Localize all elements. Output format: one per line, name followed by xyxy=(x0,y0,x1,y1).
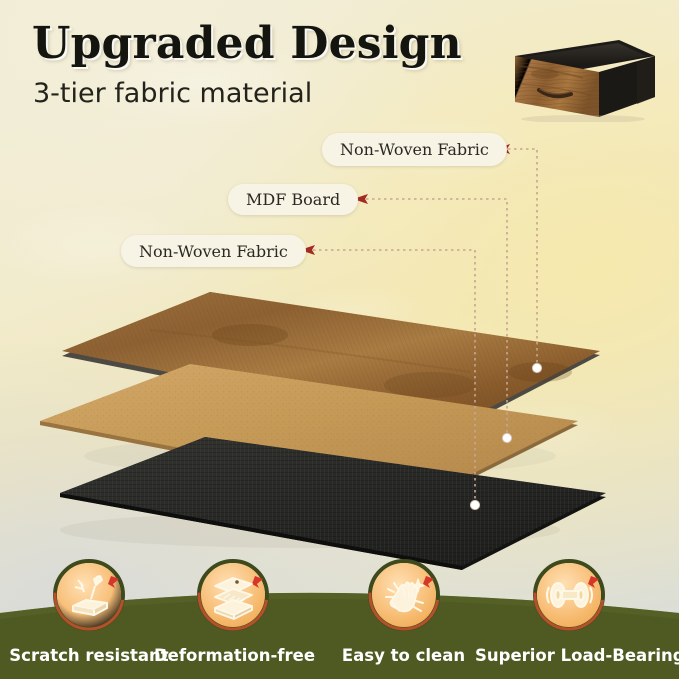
feature-badge-deformation-free xyxy=(197,559,269,631)
feature-badge-scratch-resistant xyxy=(53,559,125,631)
feature-label-deformation-free: Deformation-free xyxy=(146,646,323,665)
feature-label-superior-load-bearing: Superior Load-Bearing xyxy=(475,646,679,665)
callout-label-top: Non-Woven Fabric xyxy=(322,133,507,166)
feature-badge-easy-to-clean xyxy=(368,559,440,631)
callout-label-bottom: Non-Woven Fabric xyxy=(121,235,306,267)
feature-label-easy-to-clean: Easy to clean xyxy=(322,646,485,665)
callout-label-middle: MDF Board xyxy=(228,184,358,215)
feature-badge-superior-load-bearing xyxy=(533,559,605,631)
infographic-poster: Upgraded Design 3-tier fabric material xyxy=(0,0,679,679)
